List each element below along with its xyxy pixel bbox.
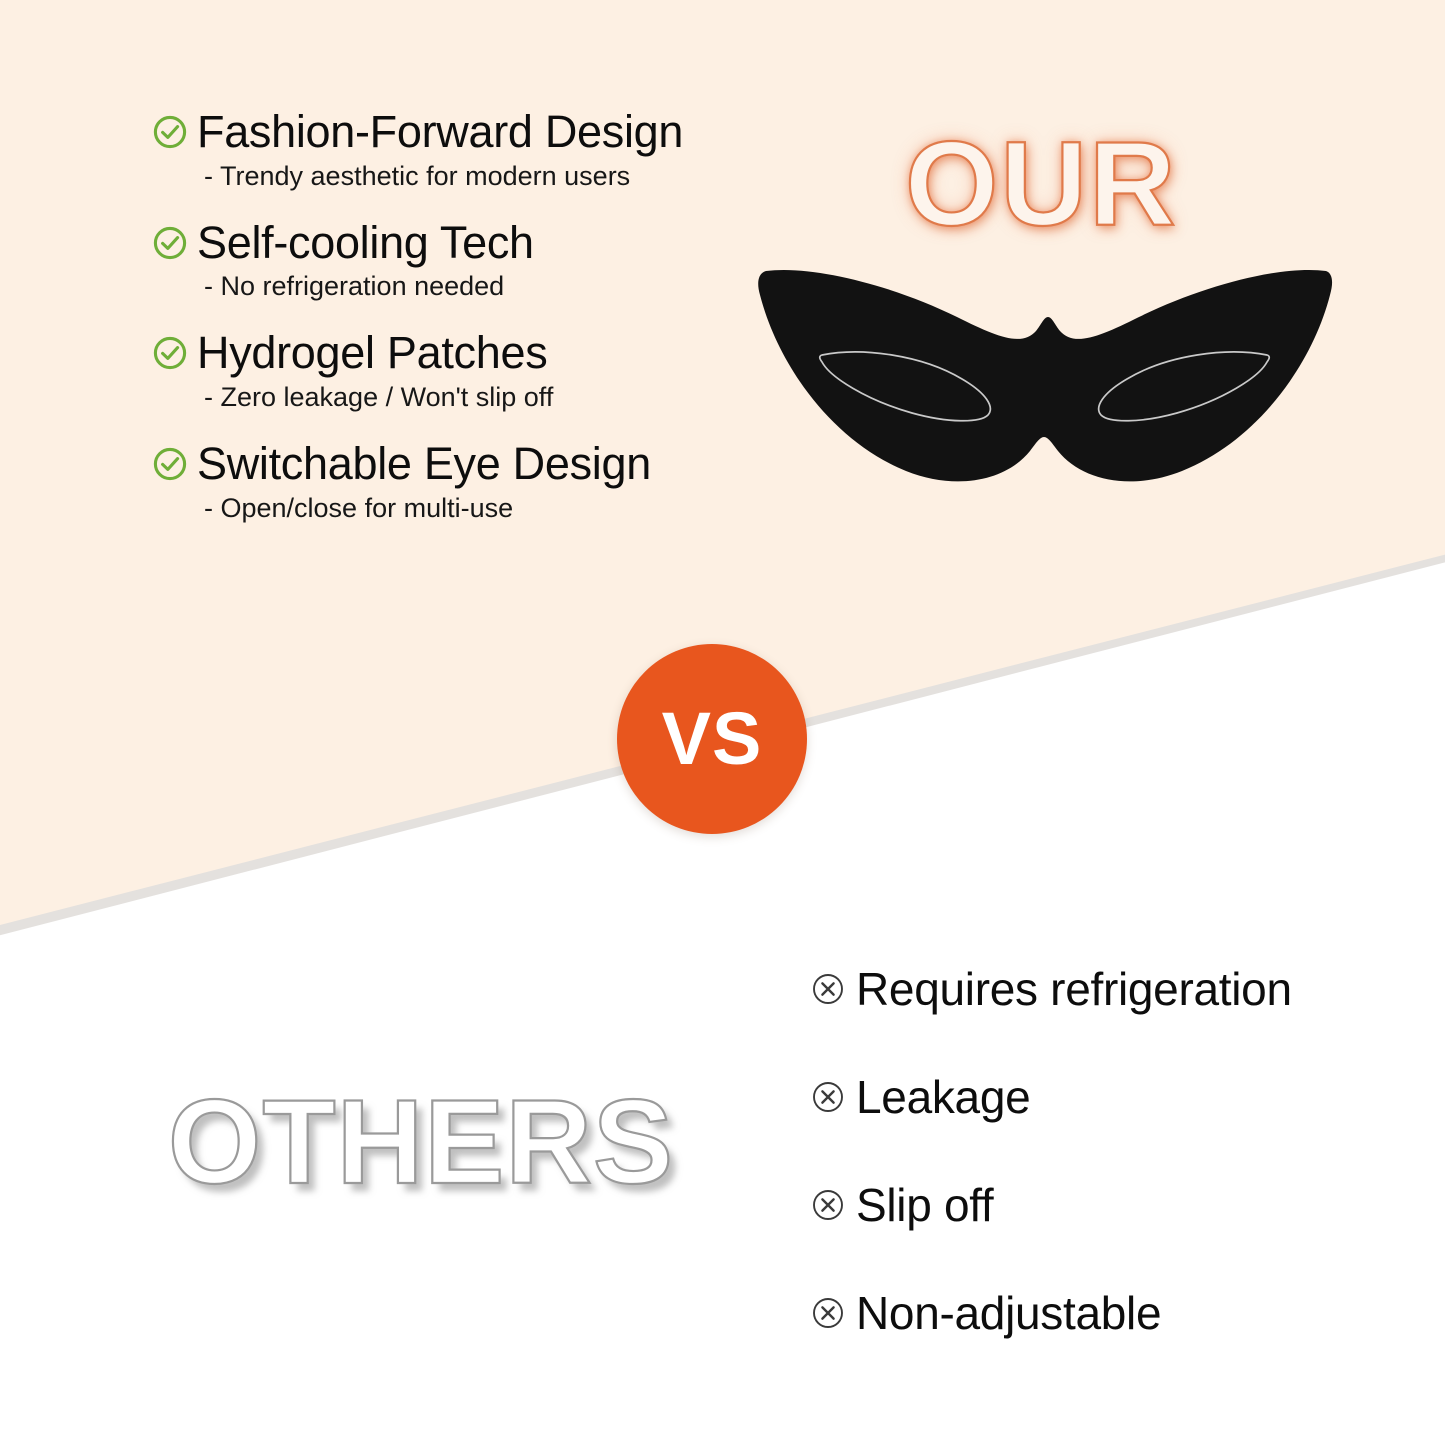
x-circle-icon	[812, 1297, 844, 1329]
feature-heading-row: Hydrogel Patches	[152, 329, 792, 377]
eye-mask-icon	[752, 255, 1337, 495]
feature-title: Fashion-Forward Design	[197, 108, 683, 156]
drawback-item: Leakage	[812, 1043, 1372, 1151]
our-label: OUR	[905, 124, 1178, 244]
feature-detail: - No refrigeration needed	[204, 271, 792, 302]
drawback-label: Requires refrigeration	[856, 965, 1292, 1013]
x-circle-icon	[812, 1189, 844, 1221]
x-circle-icon	[812, 973, 844, 1005]
feature-heading-row: Switchable Eye Design	[152, 440, 792, 488]
versus-badge-icon: VS	[617, 644, 807, 834]
x-circle-icon	[812, 1081, 844, 1113]
others-label: OTHERS	[168, 1082, 674, 1202]
feature-item: Hydrogel Patches - Zero leakage / Won't …	[152, 329, 792, 413]
feature-item: Switchable Eye Design - Open/close for m…	[152, 440, 792, 524]
drawback-item: Slip off	[812, 1151, 1372, 1259]
others-drawbacks-list: Requires refrigeration Leakage Slip off	[812, 935, 1372, 1367]
drawback-item: Requires refrigeration	[812, 935, 1372, 1043]
feature-title: Self-cooling Tech	[197, 219, 534, 267]
check-circle-icon	[152, 335, 188, 371]
feature-title: Switchable Eye Design	[197, 440, 651, 488]
check-circle-icon	[152, 114, 188, 150]
our-features-list: Fashion-Forward Design - Trendy aestheti…	[152, 108, 792, 551]
drawback-label: Slip off	[856, 1181, 993, 1229]
feature-heading-row: Self-cooling Tech	[152, 219, 792, 267]
drawback-label: Non-adjustable	[856, 1289, 1161, 1337]
feature-item: Fashion-Forward Design - Trendy aestheti…	[152, 108, 792, 192]
drawback-label: Leakage	[856, 1073, 1030, 1121]
feature-heading-row: Fashion-Forward Design	[152, 108, 792, 156]
feature-detail: - Trendy aesthetic for modern users	[204, 161, 792, 192]
feature-item: Self-cooling Tech - No refrigeration nee…	[152, 219, 792, 303]
comparison-infographic: Fashion-Forward Design - Trendy aestheti…	[0, 0, 1445, 1445]
versus-label: VS	[662, 702, 763, 776]
check-circle-icon	[152, 446, 188, 482]
feature-title: Hydrogel Patches	[197, 329, 547, 377]
feature-detail: - Open/close for multi-use	[204, 493, 792, 524]
feature-detail: - Zero leakage / Won't slip off	[204, 382, 792, 413]
drawback-item: Non-adjustable	[812, 1259, 1372, 1367]
check-circle-icon	[152, 225, 188, 261]
